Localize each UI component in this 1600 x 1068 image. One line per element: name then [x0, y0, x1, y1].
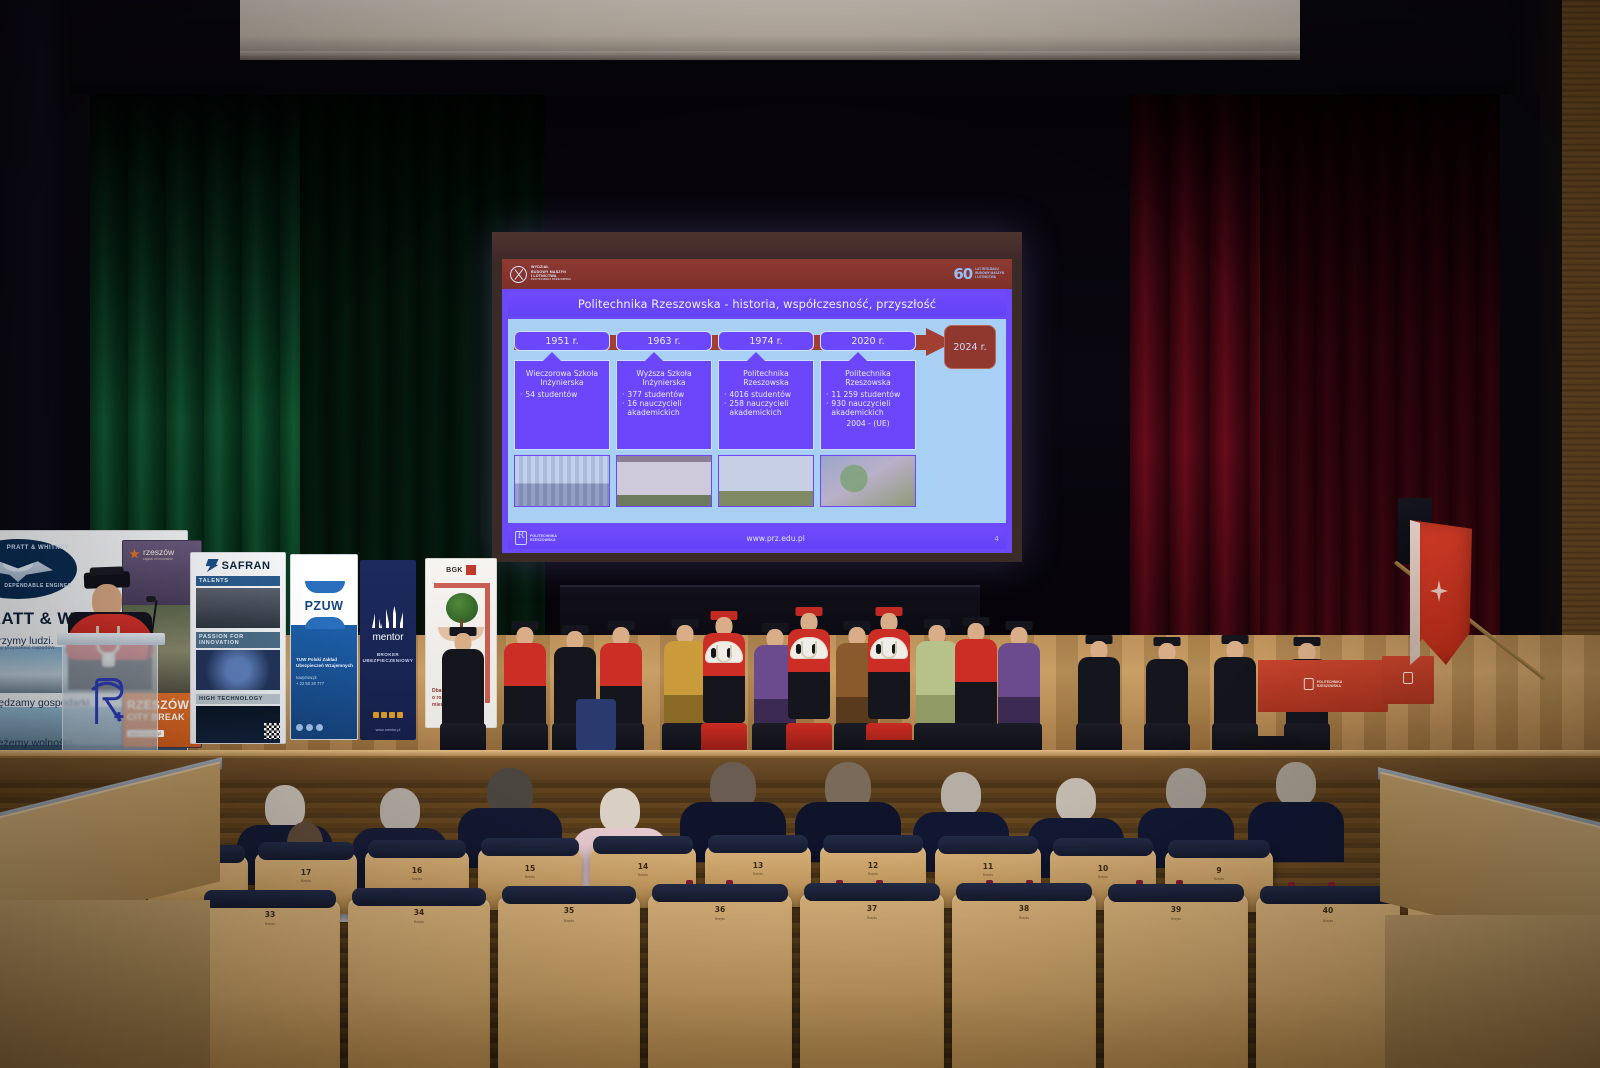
screen-top-bar [492, 232, 1022, 259]
seat-cushion [352, 888, 485, 906]
seat-number: 35 [564, 906, 574, 915]
seat-sublabel: Rzędu [1171, 917, 1182, 921]
card-bullet-text: 16 nauczycieli akademickich [627, 399, 707, 417]
slide-header: WYDZIAŁ BUDOWY MASZYN I LOTNICTWA POLITE… [502, 259, 1012, 289]
seat-cushion [956, 883, 1091, 901]
seat-cushion [1108, 884, 1243, 902]
timeline-year-1963: 1963 r. [616, 331, 712, 351]
seat-38[interactable]: 38 Rzędu [952, 893, 1096, 1068]
rector-chain [881, 641, 897, 659]
seat-33[interactable]: 33 Rzędu [200, 900, 340, 1068]
table-logo: POLITECHNIKA RZESZOWSKA [1304, 678, 1342, 690]
mentor-social-icons [360, 712, 416, 718]
bullet-icon: · [724, 390, 726, 399]
card-bullet-text: 54 studentów [525, 390, 577, 399]
card-bullet-text: 930 nauczycieli akademickich [831, 399, 911, 417]
facebook-icon [373, 712, 379, 718]
prz-footer-logo: POLITECHNIKA RZESZOWSKA [515, 531, 557, 545]
bgk-square-icon [466, 565, 476, 575]
faculty-line-4: POLITECHNIKA RZESZOWSKA [531, 278, 571, 282]
dignitary [1146, 643, 1188, 753]
youtube-icon [316, 724, 323, 731]
card-bullets: ·54 studentów [519, 390, 605, 399]
anniversary-caption-3: I LOTNICTWA [975, 276, 1004, 280]
timeline-year-1974: 1974 r. [718, 331, 814, 351]
seat-cushion [204, 890, 336, 908]
seat-sublabel: Rzędu [525, 875, 536, 879]
presentation-slide: WYDZIAŁ BUDOWY MASZYN I LOTNICTWA POLITE… [502, 259, 1012, 553]
seat-sublabel: Rzędu [414, 920, 425, 924]
info-card-2020: Politechnika Rzeszowska ·11 259 studentó… [820, 360, 916, 450]
pw-emblem-top-text: PRATT & WHITNEY [0, 545, 103, 551]
dignitary [440, 633, 486, 753]
pzuw-arc-bottom-icon [305, 617, 345, 629]
dignitary [996, 627, 1042, 753]
seat-sublabel: Rzędu [715, 917, 726, 921]
ceremonial-table-main: POLITECHNIKA RZESZOWSKA [1258, 660, 1388, 712]
slide-footer-url: www.prz.edu.pl [747, 534, 805, 543]
seated-dignitaries [430, 588, 1330, 753]
seat-cushion [823, 835, 923, 853]
projection-screen: WYDZIAŁ BUDOWY MASZYN I LOTNICTWA POLITE… [492, 232, 1022, 562]
seat-cushion [368, 840, 466, 858]
right-aisle-panel [1385, 915, 1600, 1068]
banner-pzuw: PZUW TUW Polski Zakład Ubezpieczeń Wzaje… [290, 554, 358, 740]
card-bullets: ·4016 studentów ·258 nauczycieli akademi… [723, 390, 809, 418]
flag-trim [1410, 520, 1420, 665]
seat-number: 12 [868, 861, 878, 870]
mentor-crown-icon [372, 606, 404, 628]
seat-37[interactable]: 37 Rzędu [800, 893, 944, 1068]
attendee-head [1276, 762, 1316, 806]
card-note-eu: 2004 - (UE) [825, 419, 911, 428]
pzuw-description-line-2: Ubezpieczeń Wzajemnych [296, 663, 356, 669]
bullet-icon: · [622, 390, 624, 399]
table-logo-line-2: RZESZOWSKA [1317, 684, 1342, 688]
safran-logo: SAFRAN [196, 559, 280, 572]
bgk-wordmark: BGK [446, 567, 463, 574]
qr-code-icon[interactable] [264, 723, 280, 739]
slide-body: 1951 r. 1963 r. 1974 r. 2020 r. 2024 r. … [508, 319, 1006, 523]
safran-photo-turbine [196, 650, 280, 690]
seat-sublabel: Rzędu [638, 873, 649, 877]
seat-sublabel: Rzędu [1323, 919, 1334, 923]
auditorium-ceremony-scene: WYDZIAŁ BUDOWY MASZYN I LOTNICTWA POLITE… [0, 0, 1600, 1068]
dignitary-lap [786, 723, 832, 753]
attendee-head [380, 788, 420, 832]
ceremonial-table-side [1382, 656, 1434, 704]
table-logo-text: POLITECHNIKA RZESZOWSKA [1317, 680, 1342, 688]
pzuw-wordmark: PZUW [291, 599, 357, 613]
dignitary-lap [701, 723, 747, 753]
eagle-icon [0, 556, 53, 582]
rector-chain [801, 641, 817, 659]
seat-number: 14 [638, 862, 648, 871]
prz-footer-line-2: RZESZOWSKA [530, 538, 557, 542]
seat-cushion [481, 838, 579, 856]
dignitary-robe [955, 639, 997, 729]
dignitary-lap [440, 723, 486, 753]
anniversary-number: 60 [953, 265, 972, 283]
seat-number: 16 [412, 866, 422, 875]
bullet-icon: · [826, 399, 828, 417]
mentor-url: www.mentor.pl [360, 728, 416, 732]
faculty-logo: WYDZIAŁ BUDOWY MASZYN I LOTNICTWA POLITE… [510, 265, 571, 283]
safran-photo-team [196, 588, 280, 628]
mentor-subtitle: BROKER UBEZPIECZENIOWY [360, 652, 416, 664]
card-bullet-text: 11 259 studentów [831, 390, 900, 399]
left-aisle-panel [0, 900, 210, 1068]
bullet-icon: · [826, 390, 828, 399]
bullet-icon: · [520, 390, 522, 399]
seat-sublabel: Rzędu [301, 879, 312, 883]
card-bullets: ·377 studentów ·16 nauczycieli akademick… [621, 390, 707, 418]
seat-cushion [804, 883, 939, 901]
seat-cushion [502, 886, 635, 904]
pzuw-description: TUW Polski Zakład Ubezpieczeń Wzajemnych [296, 657, 356, 669]
pr-monogram-icon [515, 531, 527, 545]
safran-section-technology: HIGH TECHNOLOGY [196, 694, 280, 704]
dignitary-robe [504, 643, 546, 733]
card-title: Wieczorowa Szkoła Inżynierska [519, 369, 605, 387]
seat-cushion [258, 842, 354, 860]
dignitary-lap [1076, 723, 1122, 753]
bullet-icon: · [622, 399, 624, 417]
bullet-icon: · [724, 399, 726, 417]
seat-number: 34 [414, 908, 424, 917]
card-bullet-text: 258 nauczycieli akademickich [729, 399, 809, 417]
seat-cushion [1168, 840, 1270, 858]
attendee-head [941, 772, 981, 816]
dignitary [952, 623, 1000, 753]
anniversary-caption: LAT WYDZIAŁU BUDOWY MASZYN I LOTNICTWA [975, 268, 1004, 279]
card-bullet: ·16 nauczycieli akademickich [621, 399, 707, 417]
campus-building-photo-1974 [718, 455, 814, 507]
seat-sublabel: Rzędu [753, 872, 764, 876]
rzeszow-wordmark: rzeszów [143, 547, 174, 557]
pr-monogram-icon [1304, 678, 1314, 690]
card-bullet: ·4016 studentów [723, 390, 809, 399]
seat-number: 13 [753, 861, 763, 870]
seat-number: 15 [525, 864, 535, 873]
mentor-wordmark: mentor [360, 632, 416, 643]
attendee-head [1166, 768, 1206, 812]
pzuw-social-icons [296, 724, 323, 731]
seat-number: 33 [265, 910, 275, 919]
rector-chain [716, 645, 732, 663]
card-bullets: ·11 259 studentów ·930 nauczycieli akade… [825, 390, 911, 418]
stage-chair[interactable] [576, 699, 616, 751]
prz-footer-logo-text: POLITECHNIKA RZESZOWSKA [530, 534, 557, 543]
card-bullet: ·258 nauczycieli akademickich [723, 399, 809, 417]
dignitary-rector [782, 613, 836, 753]
pr-monogram-icon [1403, 672, 1413, 684]
card-title: Politechnika Rzeszowska [825, 369, 911, 387]
seat-cushion [593, 836, 693, 854]
screen-valance [240, 0, 1300, 54]
dignitary-rector [698, 617, 750, 753]
seat-sublabel: Rzędu [1214, 877, 1225, 881]
seat-number: 36 [715, 905, 725, 914]
historic-building-photo-1963 [616, 455, 712, 507]
dignitary-lap [953, 723, 999, 753]
facebook-icon [296, 724, 303, 731]
anniversary-logo: 60 LAT WYDZIAŁU BUDOWY MASZYN I LOTNICTW… [953, 265, 1004, 283]
podium-top [57, 633, 165, 645]
seat-sublabel: Rzędu [983, 873, 994, 877]
slide-page-number: 4 [994, 534, 999, 543]
safran-section-passion: PASSION FOR INNOVATION [196, 632, 280, 648]
microphone-icon [146, 596, 156, 602]
dignitary [1078, 641, 1120, 753]
rzeszow-sub: capital of innovation [143, 557, 174, 561]
dignitary-robe [998, 643, 1040, 733]
seat-number: 10 [1098, 864, 1108, 873]
seat-number: 40 [1323, 906, 1333, 915]
pzuw-contact: tuwpzuw.pl + 22 50 20 777 [296, 675, 356, 686]
seat-number: 17 [301, 868, 311, 877]
star-icon [129, 549, 140, 560]
seat-sublabel: Rzędu [1098, 875, 1109, 879]
seat-number: 38 [1019, 904, 1029, 913]
safran-s-icon [206, 559, 219, 572]
seat-sublabel: Rzędu [868, 872, 879, 876]
seat-35[interactable]: 35 Rzędu [498, 896, 640, 1068]
bgk-logo: BGK [426, 565, 496, 575]
seat-cushion [652, 884, 787, 902]
card-bullet: ·11 259 studentów [825, 390, 911, 399]
campus-aerial-photo-2020 [820, 455, 916, 507]
card-bullet-text: 4016 studentów [729, 390, 791, 399]
seat-cushion [708, 835, 808, 853]
pzuw-arc-top-icon [305, 581, 345, 593]
seat-39[interactable]: 39 Rzędu [1104, 894, 1248, 1068]
dignitary-lap [502, 723, 548, 753]
table-logo [1403, 672, 1413, 684]
seat-40[interactable]: 40 Rzędu [1256, 896, 1400, 1068]
card-bullet: ·54 studentów [519, 390, 605, 399]
card-title: Politechnika Rzeszowska [723, 369, 809, 387]
turbine-wheel-icon [510, 266, 527, 283]
card-bullet: ·377 studentów [621, 390, 707, 399]
card-bullet: ·930 nauczycieli akademickich [825, 399, 911, 417]
faculty-logo-text: WYDZIAŁ BUDOWY MASZYN I LOTNICTWA POLITE… [531, 265, 571, 283]
safran-wordmark: SAFRAN [222, 560, 271, 572]
banner-mentor: mentor BROKER UBEZPIECZENIOWY www.mentor… [360, 560, 416, 740]
banner-safran: SAFRAN TALENTS PASSION FOR INNOVATION HI… [190, 552, 286, 744]
seat-sublabel: Rzędu [564, 919, 575, 923]
seat-number: 37 [867, 904, 877, 913]
seat-sublabel: Rzędu [1019, 916, 1030, 920]
slide-photos [514, 455, 1000, 507]
info-card-1951: Wieczorowa Szkoła Inżynierska ·54 studen… [514, 360, 610, 450]
card-title: Wyższa Szkoła Inżynierska [621, 369, 707, 387]
pr-monogram-logo [87, 675, 133, 727]
instagram-icon [381, 712, 387, 718]
youtube-icon [397, 712, 403, 718]
dignitary-lap [996, 723, 1042, 753]
timeline-year-2020: 2020 r. [820, 331, 916, 351]
info-card-1974: Politechnika Rzeszowska ·4016 studentów … [718, 360, 814, 450]
linkedin-icon [306, 724, 313, 731]
historic-building-photo-1951 [514, 455, 610, 507]
seat-cushion [1053, 838, 1153, 856]
safran-section-talents: TALENTS [196, 576, 280, 586]
pzuw-phone: + 22 50 20 777 [296, 681, 356, 687]
seat-number: 9 [1216, 866, 1221, 875]
seat-sublabel: Rzędu [412, 877, 423, 881]
slide-footer: POLITECHNIKA RZESZOWSKA www.prz.edu.pl 4 [508, 527, 1006, 549]
timeline-endpoint-2024: 2024 r. [944, 325, 996, 369]
seat-number: 39 [1171, 905, 1181, 914]
dignitary-rector [862, 613, 916, 753]
seat-number: 11 [983, 862, 993, 871]
seat-34[interactable]: 34 Rzędu [348, 898, 490, 1068]
attendee-head [600, 788, 640, 832]
dignitary-lap [1144, 723, 1190, 753]
dignitary [502, 627, 548, 753]
seat-cushion [938, 836, 1038, 854]
timeline-cards: Wieczorowa Szkoła Inżynierska ·54 studen… [514, 360, 1000, 450]
seat-cushion [1260, 886, 1395, 904]
rzeszow-logo: rzeszów capital of innovation [129, 547, 174, 561]
attendee-head [1056, 778, 1096, 822]
slide-title-bar: Politechnika Rzeszowska - historia, wspó… [508, 292, 1006, 316]
seat-36[interactable]: 36 Rzędu [648, 894, 792, 1068]
mentor-subtitle-line-2: UBEZPIECZENIOWY [360, 658, 416, 664]
seat-sublabel: Rzędu [265, 922, 276, 926]
slide-title: Politechnika Rzeszowska - historia, wspó… [578, 297, 936, 311]
seat-sublabel: Rzędu [867, 916, 878, 920]
linkedin-icon [389, 712, 395, 718]
info-card-1963: Wyższa Szkoła Inżynierska ·377 studentów… [616, 360, 712, 450]
card-bullet-text: 377 studentów [627, 390, 684, 399]
timeline-year-1951: 1951 r. [514, 331, 610, 351]
